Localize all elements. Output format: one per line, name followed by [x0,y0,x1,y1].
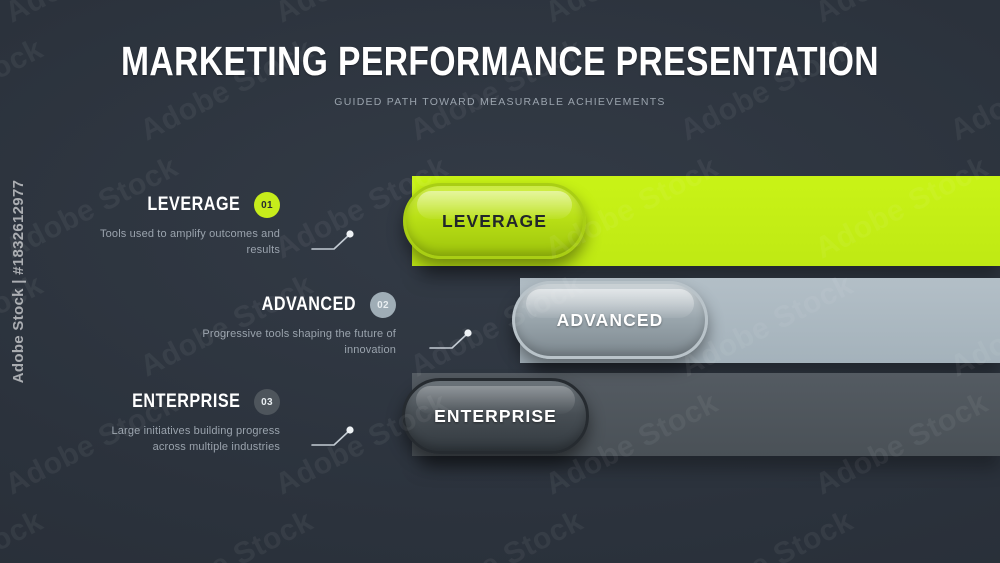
pill-label-advanced: ADVANCED [557,310,664,331]
pill-label-enterprise: ENTERPRISE [434,406,557,427]
item-title-enterprise: ENTERPRISE [132,391,240,413]
watermark-text: Adobe Stock [945,504,1000,563]
pill-label-leverage: LEVERAGE [442,211,547,232]
watermark-text: Adobe Stock [0,504,49,563]
page-subtitle: GUIDED PATH TOWARD MEASURABLE ACHIEVEMEN… [0,96,1000,108]
list-item-advanced: ADVANCED 02 Progressive tools shaping th… [196,292,396,358]
header: MARKETING PERFORMANCE PRESENTATION GUIDE… [0,40,1000,108]
badge-01: 01 [254,192,280,218]
spark-line-icon-leverage [310,228,358,259]
pill-button-leverage[interactable]: LEVERAGE [403,183,586,259]
watermark-text: Adobe Stock [405,504,589,563]
item-header-leverage: LEVERAGE 01 [80,192,280,218]
stock-credit-text: Adobe Stock | #1832612977 [11,180,28,383]
watermark-text: Adobe Stock [810,0,994,30]
pill-button-advanced[interactable]: ADVANCED [512,281,708,359]
spark-line-icon-enterprise [310,424,358,455]
item-header-enterprise: ENTERPRISE 03 [80,389,280,415]
item-description-leverage: Tools used to amplify outcomes and resul… [80,227,280,258]
page-title: MARKETING PERFORMANCE PRESENTATION [90,40,910,83]
pill-button-enterprise[interactable]: ENTERPRISE [402,378,589,454]
item-header-advanced: ADVANCED 02 [196,292,396,318]
item-description-enterprise: Large initiatives building progress acro… [80,424,280,455]
item-description-advanced: Progressive tools shaping the future of … [196,327,396,358]
spark-line-icon-advanced [428,327,476,358]
badge-03: 03 [254,389,280,415]
item-title-leverage: LEVERAGE [147,194,240,216]
watermark-text: Adobe Stock [0,268,49,384]
list-item-leverage: LEVERAGE 01 Tools used to amplify outcom… [80,192,280,258]
watermark-text: Adobe Stock [540,0,724,30]
list-item-enterprise: ENTERPRISE 03 Large initiatives building… [80,389,280,455]
badge-02: 02 [370,292,396,318]
item-title-advanced: ADVANCED [262,294,356,316]
slide-canvas: MARKETING PERFORMANCE PRESENTATION GUIDE… [0,0,1000,563]
watermark-text: Adobe Stock [135,504,319,563]
watermark-text: Adobe Stock [0,0,184,30]
watermark-text: Adobe Stock [270,0,454,30]
watermark-text: Adobe Stock [675,504,859,563]
